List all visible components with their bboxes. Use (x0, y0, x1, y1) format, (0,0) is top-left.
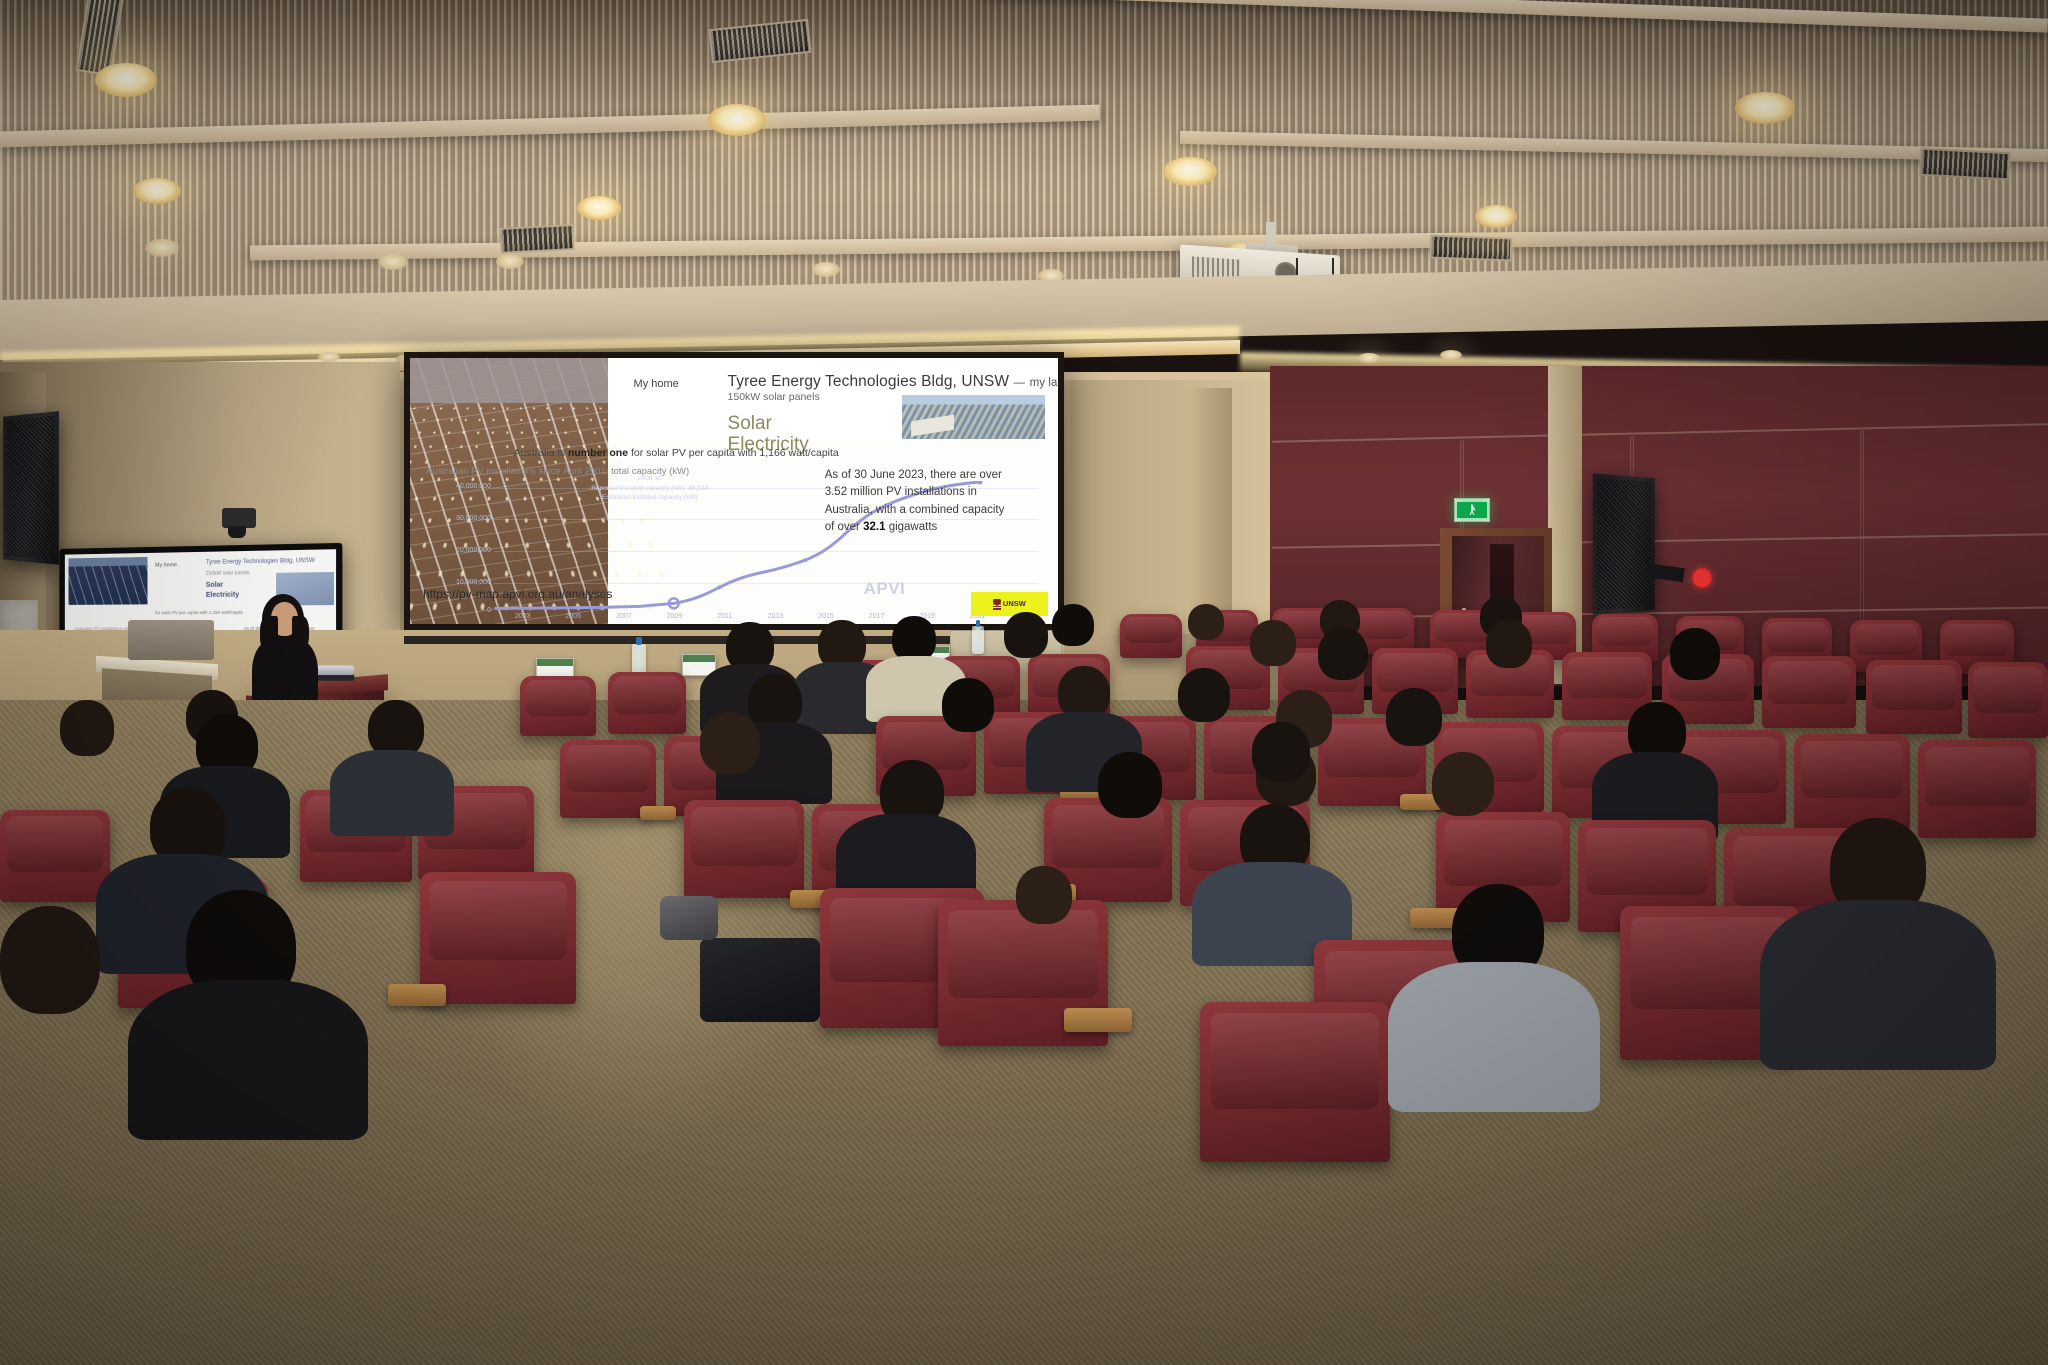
ceiling-downlight (145, 239, 179, 257)
pv-stats-note: As of 30 June 2023, there are over 3.52 … (825, 467, 1025, 536)
y-tick-30m: 30,000,000 (420, 515, 491, 522)
audience-head (1178, 668, 1230, 722)
tv-fact-line: for solar PV per capita with 1,166 watt/… (155, 610, 243, 615)
seat[interactable] (1200, 1002, 1390, 1162)
audience-head (1052, 604, 1094, 646)
seat[interactable] (1794, 734, 1910, 830)
seat[interactable] (1866, 660, 1962, 734)
projected-slide: My home Tyree Energy Technologies Bldg, … (410, 358, 1058, 624)
audience-head (942, 678, 994, 732)
x-tick-2007: 2007 (616, 613, 632, 620)
audience-shoulders (128, 980, 368, 1140)
y-tick-20m: 20,000,000 (420, 547, 491, 554)
tv-slide-title: Tyree Energy Technologies Bldg, UNSW (206, 558, 315, 566)
audience-shoulders (330, 750, 454, 836)
audience-head (0, 906, 100, 1014)
exit-sign (1454, 498, 1490, 522)
tv-heading-1: Solar (206, 582, 223, 590)
audience-head (700, 712, 760, 774)
x-tick-2011: 2011 (717, 613, 732, 620)
ceiling-downlight (812, 262, 840, 277)
australia-fact-line: Australia is number one for solar PV per… (514, 447, 839, 459)
lecture-hall-scene: My home Tyree Energy Technologies Bldg, … (0, 0, 2048, 1365)
ceiling-downlight (577, 196, 621, 220)
cove-spot (318, 352, 340, 362)
audience-head (1386, 688, 1442, 746)
slide-subtitle: 150kW solar panels (728, 391, 820, 403)
ceiling-downlight (378, 254, 408, 270)
audience-head (1004, 612, 1048, 658)
slide-title-main: Tyree Energy Technologies Bldg, UNSW (728, 373, 1010, 390)
tv-slide-subtitle: 150kW solar panels (206, 570, 250, 577)
seat[interactable] (684, 800, 804, 898)
x-tick-2005: 2005 (566, 613, 582, 620)
x-tick-2017: 2017 (869, 613, 885, 620)
air-vent (1919, 148, 2010, 181)
fire-alarm-light (1692, 568, 1712, 588)
fact-prefix: Australia is (514, 447, 565, 459)
seat-armrest (388, 984, 446, 1006)
tv-roof-photo (69, 557, 148, 605)
seat[interactable] (608, 672, 686, 734)
tyree-building-photo (902, 395, 1045, 439)
audience-shoulders (1760, 900, 1996, 1070)
note-line-3: Australia, with a combined capacity (825, 502, 1025, 519)
audience-head (1098, 752, 1162, 818)
audience-head (1016, 866, 1072, 924)
unsw-logo-text: UNSW (1003, 600, 1026, 608)
x-tick-2015: 2015 (818, 613, 834, 620)
stage-equipment-box (128, 620, 214, 660)
wall-speaker-right (1593, 473, 1655, 614)
seat[interactable] (1918, 740, 2036, 838)
seat[interactable] (1968, 662, 2048, 738)
seat-armrest (1064, 1008, 1132, 1032)
unsw-logo: UNSW (971, 592, 1049, 616)
air-vent (1430, 235, 1513, 262)
note-line-4-post: gigawatts (889, 521, 938, 533)
seat[interactable] (0, 810, 110, 902)
ceiling-downlight (496, 254, 524, 269)
y-tick-40m: 40,000,000 (420, 483, 491, 490)
audience-head (1486, 620, 1532, 668)
floor-bag (700, 938, 820, 1022)
note-bold-value: 32.1 (863, 521, 885, 533)
ceiling-downlight (1475, 205, 1517, 228)
fact-rest: for solar PV per capita with 1,166 watt/… (631, 447, 839, 459)
x-tick-2009: 2009 (667, 613, 683, 620)
y-tick-10m: 10,000,000 (420, 579, 491, 586)
cove-spot (1358, 353, 1380, 363)
note-line-4: of over 32.1 gigawatts (825, 519, 1025, 536)
slide-title-dash: — (1014, 377, 1026, 389)
seat[interactable] (1762, 656, 1856, 728)
water-bottle (972, 626, 984, 654)
audience-head (1188, 604, 1224, 640)
air-vent (499, 224, 574, 254)
camera-lens (228, 526, 246, 538)
ceiling-downlight (95, 63, 157, 97)
audience-head (1318, 628, 1368, 680)
slide-title: Tyree Energy Technologies Bldg, UNSW — m… (728, 373, 1058, 391)
note-line-1: As of 30 June 2023, there are over (825, 467, 1025, 484)
wall-speaker-left (3, 411, 59, 565)
ceiling-downlight (133, 178, 181, 204)
fact-bold: number one (568, 447, 628, 459)
note-line-2: 3.52 million PV installations in (825, 484, 1025, 501)
running-man-icon (1469, 504, 1476, 515)
x-tick-2003: 2003 (515, 613, 531, 620)
unsw-crest-icon (993, 599, 1001, 610)
ceiling-downlight (1735, 92, 1795, 124)
seat-armrest (640, 806, 676, 820)
ceiling-downlight (708, 104, 766, 136)
y-tick-0: 0 (420, 607, 491, 614)
tv-heading-2: Electricity (206, 592, 239, 600)
seat[interactable] (520, 676, 596, 736)
ceiling-downlight (1163, 157, 1217, 186)
audience-head (1252, 722, 1310, 782)
cove-spot (1440, 350, 1462, 360)
note-line-4-pre: of over (825, 521, 860, 533)
audience-head (1432, 752, 1494, 816)
camera-body (222, 508, 256, 528)
audience-shoulders (1388, 962, 1600, 1112)
source-url[interactable]: https://pv-map.apvi.org.au/analyses (423, 587, 612, 601)
x-tick-2013: 2013 (768, 613, 784, 620)
my-home-label: My home (634, 378, 679, 390)
tv-myhome-label: My home (155, 562, 177, 568)
apvi-watermark: APVI (864, 579, 906, 599)
seat[interactable] (1120, 614, 1182, 658)
audience-head (1670, 628, 1720, 680)
slide-heading-line1: Solar (728, 413, 809, 434)
floor-bag (660, 896, 718, 940)
audience-head (60, 700, 114, 756)
audience-head (1250, 620, 1296, 666)
slide-title-suffix: my labs (1030, 377, 1058, 389)
